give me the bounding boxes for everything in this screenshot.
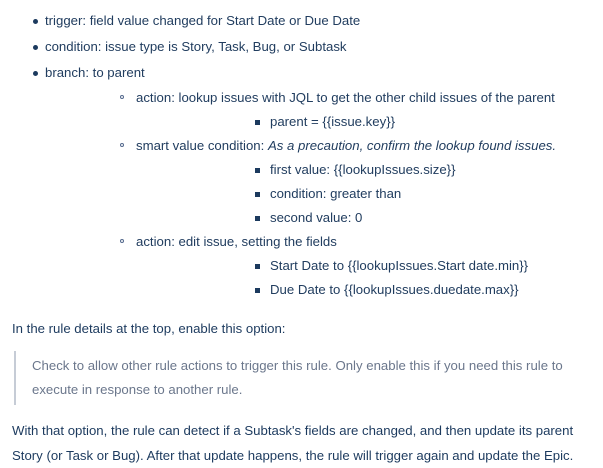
list-item-condition: condition: issue type is Story, Task, Bu… xyxy=(0,34,603,60)
list-item-start-date: Start Date to {{lookupIssues.Start date.… xyxy=(136,254,603,278)
list-item-text: action: edit issue, setting the fields xyxy=(136,234,337,249)
list-item-action-edit-issue: action: edit issue, setting the fields S… xyxy=(45,230,603,302)
list-item-text-emphasis: As a precaution, confirm the lookup foun… xyxy=(268,138,556,153)
list-item-text: condition: issue type is Story, Task, Bu… xyxy=(45,39,347,54)
paragraph-instruction: In the rule details at the top, enable t… xyxy=(0,316,603,341)
list-item-text: Start Date to {{lookupIssues.Start date.… xyxy=(270,258,528,273)
edit-issue-sublist: Start Date to {{lookupIssues.Start date.… xyxy=(136,254,603,302)
list-item-text: parent = {{issue.key}} xyxy=(270,114,395,129)
smart-value-sublist: first value: {{lookupIssues.size}} condi… xyxy=(136,158,603,230)
list-item-text: action: lookup issues with JQL to get th… xyxy=(136,90,555,105)
spacer-after-list xyxy=(0,302,603,316)
list-item-parent-jql: parent = {{issue.key}} xyxy=(136,110,603,134)
list-item-first-value: first value: {{lookupIssues.size}} xyxy=(136,158,603,182)
list-item-text: second value: 0 xyxy=(270,210,362,225)
list-item-text: smart value condition: xyxy=(136,138,268,153)
paragraph-closing: With that option, the rule can detect if… xyxy=(0,418,603,468)
list-item-due-date: Due Date to {{lookupIssues.duedate.max}} xyxy=(136,278,603,302)
list-item-branch: branch: to parent action: lookup issues … xyxy=(0,60,603,302)
list-item-text: trigger: field value changed for Start D… xyxy=(45,13,360,28)
list-item-text: first value: {{lookupIssues.size}} xyxy=(270,162,455,177)
list-item-trigger: trigger: field value changed for Start D… xyxy=(0,8,603,34)
list-item-condition-operator: condition: greater than xyxy=(136,182,603,206)
branch-sublist: action: lookup issues with JQL to get th… xyxy=(45,86,603,302)
rule-outline-list: trigger: field value changed for Start D… xyxy=(0,8,603,302)
document-page: trigger: field value changed for Start D… xyxy=(0,0,603,446)
list-item-second-value: second value: 0 xyxy=(136,206,603,230)
spacer-before-quote xyxy=(0,341,603,351)
note-blockquote-text: Check to allow other rule actions to tri… xyxy=(32,354,593,402)
list-item-text: condition: greater than xyxy=(270,186,401,201)
spacer-after-quote xyxy=(0,405,603,418)
list-item-smart-value-condition: smart value condition: As a precaution, … xyxy=(45,134,603,230)
list-item-text: branch: to parent xyxy=(45,65,145,80)
lookup-sublist: parent = {{issue.key}} xyxy=(136,110,603,134)
top-spacer xyxy=(0,0,603,8)
list-item-action-lookup: action: lookup issues with JQL to get th… xyxy=(45,86,603,134)
list-item-text: Due Date to {{lookupIssues.duedate.max}} xyxy=(270,282,519,297)
note-blockquote: Check to allow other rule actions to tri… xyxy=(14,351,603,405)
